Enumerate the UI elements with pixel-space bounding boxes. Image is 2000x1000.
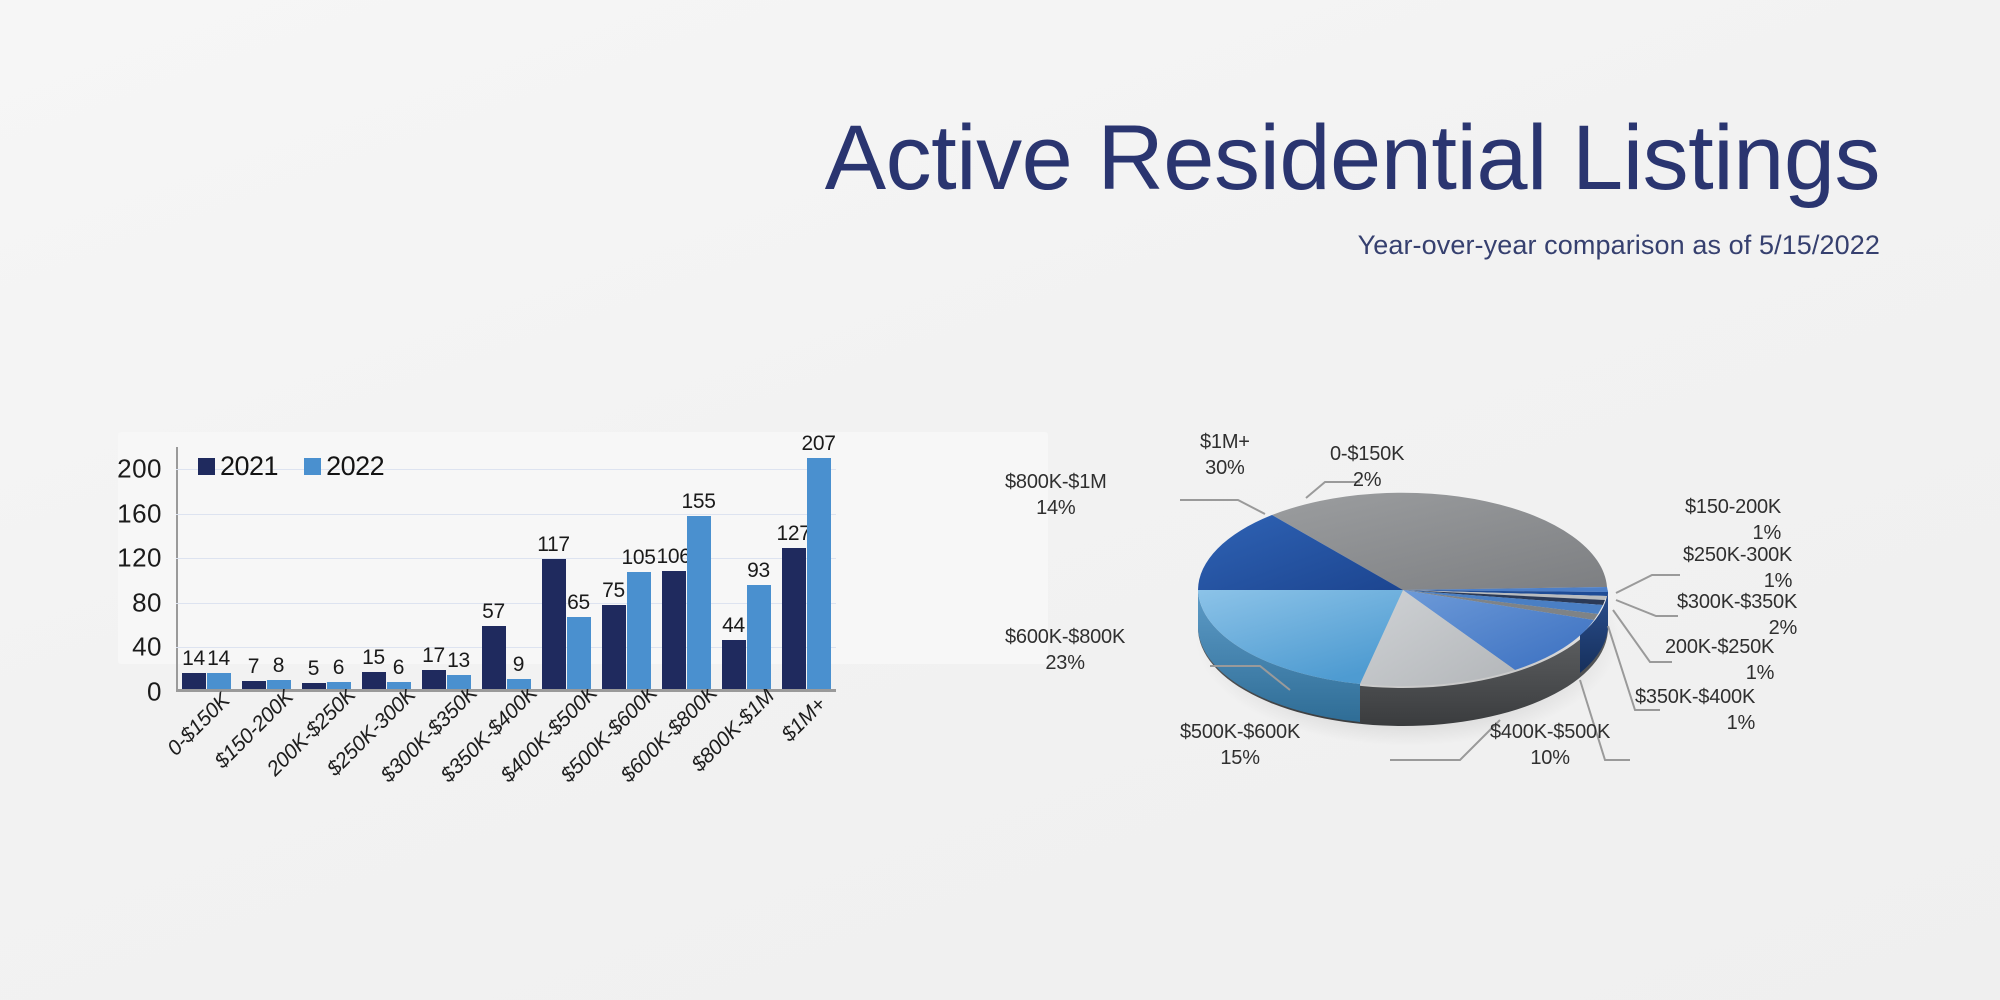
y-axis-tick-label: 80 (132, 587, 162, 618)
bar-2021[interactable]: 15 (362, 447, 386, 689)
page-header: Active Residential Listings Year-over-ye… (0, 0, 1880, 261)
bar-chart-legend: 20212022 (198, 451, 384, 482)
pie-label-percent: 30% (1200, 456, 1250, 482)
bar-rect (542, 559, 566, 689)
bar-rect (422, 670, 446, 689)
bar-value-label: 9 (513, 653, 524, 677)
bar-2021[interactable]: 57 (482, 447, 506, 689)
bar-group: 156 (356, 447, 416, 689)
bar-rect (267, 680, 291, 689)
bar-rect (482, 626, 506, 689)
page-subtitle: Year-over-year comparison as of 5/15/202… (0, 204, 1880, 261)
bar-2021[interactable]: 106 (662, 447, 686, 689)
bar-value-label: 17 (422, 644, 445, 668)
y-axis-tick-label: 200 (117, 454, 162, 485)
pie-label-percent: 14% (1005, 496, 1107, 522)
bar-value-label: 15 (362, 646, 385, 670)
bar-rect (362, 672, 386, 689)
bar-chart-plot-area: 04080120160200 20212022 1414785615617135… (176, 447, 836, 692)
bar-chart: 04080120160200 20212022 1414785615617135… (118, 432, 1048, 892)
bar-rect (782, 548, 806, 689)
y-axis-tick-label: 120 (117, 543, 162, 574)
bar-rect (722, 640, 746, 689)
page-title: Active Residential Listings (0, 0, 1880, 204)
pie-label-$300K-$350K: $300K-$350K2% (1677, 590, 1797, 641)
bar-2022[interactable]: 65 (567, 447, 591, 689)
pie-chart: $1M+30%0-$150K2%$150-200K1%$250K-300K1%$… (1060, 430, 1960, 910)
bar-2021[interactable]: 17 (422, 447, 446, 689)
y-axis-tick-label: 0 (147, 677, 162, 708)
pie-label-name: $300K-$350K (1677, 591, 1797, 613)
legend-swatch-icon (304, 458, 321, 475)
bar-rect (807, 458, 831, 689)
bar-rect (207, 673, 231, 689)
bar-rect (182, 673, 206, 689)
pie-label-$400K-$500K: $400K-$500K10% (1490, 720, 1610, 771)
bar-2022[interactable]: 14 (207, 447, 231, 689)
x-axis-tick-labels: 0-$150K$150-200K200K-$250K$250K-300K$300… (176, 695, 836, 825)
pie-label-percent: 23% (1005, 651, 1125, 677)
bar-2021[interactable]: 127 (782, 447, 806, 689)
bar-2022[interactable]: 6 (387, 447, 411, 689)
bar-group: 75105 (596, 447, 656, 689)
legend-label: 2021 (220, 451, 278, 482)
bar-rect (447, 675, 471, 689)
pie-label-$350K-$400K: $350K-$400K1% (1635, 685, 1755, 736)
bar-value-label: 8 (273, 654, 284, 678)
bar-rect (567, 617, 591, 689)
pie-label-200K-$250K: 200K-$250K1% (1665, 635, 1774, 686)
bar-value-label: 106 (656, 545, 690, 569)
pie-label-name: $800K-$1M (1005, 471, 1107, 493)
pie-label-name: $400K-$500K (1490, 721, 1610, 743)
x-tick-cell: $800K-$1M (716, 695, 776, 825)
bar-value-label: 117 (537, 533, 570, 557)
bar-group: 1414 (176, 447, 236, 689)
x-axis-tick-label: $1M+ (777, 693, 831, 747)
bar-rect (747, 585, 771, 689)
bar-rect (662, 571, 686, 689)
bar-rect (507, 679, 531, 689)
pie-label-name: $1M+ (1200, 431, 1250, 453)
y-axis-tick-label: 160 (117, 498, 162, 529)
bar-group: 56 (296, 447, 356, 689)
pie-label-$1M+: $1M+30% (1200, 430, 1250, 481)
pie-label-percent: 15% (1180, 746, 1300, 772)
bar-group: 127207 (776, 447, 836, 689)
bar-group: 4493 (716, 447, 776, 689)
bar-rect (602, 605, 626, 689)
pie-label-$600K-$800K: $600K-$800K23% (1005, 625, 1125, 676)
bar-value-label: 75 (602, 579, 625, 603)
pie-label-name: $600K-$800K (1005, 626, 1125, 648)
bar-2021[interactable]: 7 (242, 447, 266, 689)
pie-label-name: 200K-$250K (1665, 636, 1774, 658)
bar-2022[interactable]: 93 (747, 447, 771, 689)
bar-value-label: 5 (308, 657, 319, 681)
bar-rect (327, 682, 351, 689)
bar-2022[interactable]: 9 (507, 447, 531, 689)
pie-label-name: 0-$150K (1330, 443, 1404, 465)
bar-rect (302, 683, 326, 689)
bar-value-label: 93 (747, 559, 770, 583)
bar-value-label: 57 (482, 600, 505, 624)
bar-value-label: 6 (333, 656, 344, 680)
bar-2022[interactable]: 105 (627, 447, 651, 689)
bar-value-label: 7 (248, 655, 259, 679)
bar-rect (387, 682, 411, 689)
pie-label-percent: 1% (1635, 711, 1755, 737)
bar-value-label: 127 (776, 522, 810, 546)
bar-2021[interactable]: 117 (542, 447, 566, 689)
bar-2021[interactable]: 5 (302, 447, 326, 689)
x-tick-cell: $1M+ (776, 695, 836, 825)
bar-group: 106155 (656, 447, 716, 689)
bar-value-label: 13 (447, 649, 470, 673)
pie-label-$800K-$1M: $800K-$1M14% (1005, 470, 1107, 521)
pie-label-name: $150-200K (1685, 496, 1781, 518)
legend-item-2022[interactable]: 2022 (304, 451, 384, 482)
pie-label-name: $250K-300K (1683, 544, 1792, 566)
pie-label-percent: 1% (1665, 661, 1774, 687)
bar-2022[interactable]: 13 (447, 447, 471, 689)
pie-label-$500K-$600K: $500K-$600K15% (1180, 720, 1300, 771)
pie-chart-graphic (1060, 430, 1960, 910)
bar-group: 11765 (536, 447, 596, 689)
pie-label-$150-200K: $150-200K1% (1685, 495, 1781, 546)
bar-value-label: 6 (393, 656, 404, 680)
bar-rect (627, 572, 651, 689)
bar-group: 78 (236, 447, 296, 689)
pie-label-percent: 10% (1490, 746, 1610, 772)
bar-value-label: 14 (207, 647, 230, 671)
bar-rect (242, 681, 266, 689)
pie-label-name: $500K-$600K (1180, 721, 1300, 743)
bar-value-label: 65 (567, 591, 590, 615)
bar-value-label: 207 (801, 432, 835, 456)
bar-2022[interactable]: 155 (687, 447, 711, 689)
pie-label-0-$150K: 0-$150K2% (1330, 442, 1404, 493)
bar-rect (687, 516, 711, 689)
bar-value-label: 14 (182, 647, 205, 671)
pie-label-$250K-300K: $250K-300K1% (1683, 543, 1792, 594)
bar-2022[interactable]: 6 (327, 447, 351, 689)
bar-value-label: 44 (722, 614, 745, 638)
legend-item-2021[interactable]: 2021 (198, 451, 278, 482)
pie-label-name: $350K-$400K (1635, 686, 1755, 708)
pie-label-percent: 2% (1330, 468, 1404, 494)
legend-label: 2022 (326, 451, 384, 482)
bar-2022[interactable]: 207 (807, 447, 831, 689)
bar-group: 1713 (416, 447, 476, 689)
bar-2021[interactable]: 44 (722, 447, 746, 689)
bar-group: 579 (476, 447, 536, 689)
bar-groups: 1414785615617135791176575105106155449312… (176, 447, 836, 689)
bar-value-label: 105 (621, 546, 655, 570)
bar-value-label: 155 (681, 490, 715, 514)
bar-2021[interactable]: 14 (182, 447, 206, 689)
y-axis-tick-label: 40 (132, 632, 162, 663)
bar-2022[interactable]: 8 (267, 447, 291, 689)
legend-swatch-icon (198, 458, 215, 475)
